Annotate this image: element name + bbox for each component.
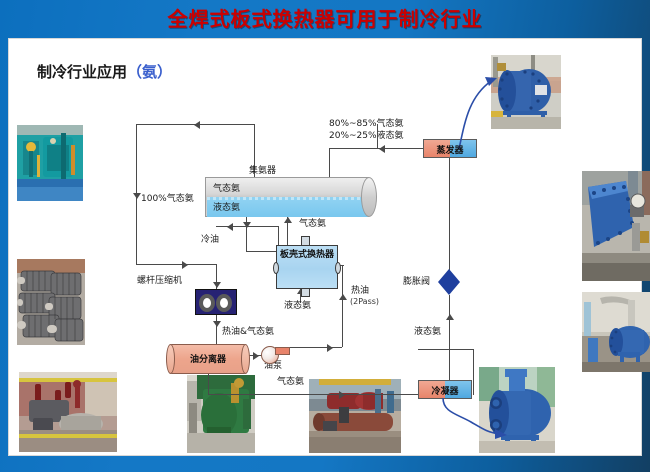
slide-canvas: 制冷行业应用（氨） [8, 38, 642, 456]
oil-pump-discharge [275, 347, 290, 355]
arrow-mix [379, 145, 385, 153]
pipe-vapor-to-cond [473, 349, 474, 395]
photo-blue-hx-piping [582, 292, 650, 372]
pipe-discharge-v [216, 315, 217, 344]
callout-evaporator-to-photo [439, 67, 509, 152]
arrow-sep-vapor [339, 391, 345, 399]
screw-compressor [195, 289, 237, 315]
photo-blue-hx-flange [582, 171, 650, 281]
arrow-cond-to-valve [446, 314, 454, 320]
pipe-collector-right-v [377, 124, 378, 149]
condenser: 冷凝器 [418, 380, 472, 399]
arrow-hot-oil [339, 294, 347, 300]
page-title: 全焊式板式换热器可用于制冷行业 [0, 3, 650, 32]
photo-workshop-red [19, 372, 117, 452]
section-heading: 制冷行业应用（氨） [37, 61, 172, 82]
arrow-sep-to-pump [253, 352, 259, 360]
plate-shell-heat-exchanger: 板壳式换热器 [276, 245, 338, 289]
photo-teal-plant [17, 125, 83, 201]
pshx-top-nozzle [301, 236, 310, 246]
collector-phase-vapor: 气态氨 [213, 181, 240, 194]
arrow-collector-downcomer [243, 222, 251, 228]
label-hot-oil-and-vapor: 热油&气态氨 [222, 327, 274, 338]
pipe-to-compressor [136, 264, 216, 265]
label-hot-oil-pass: (2Pass) [350, 297, 379, 307]
label-collector: 集氨器 [249, 163, 276, 176]
pipe-cond-to-valve [449, 295, 450, 380]
label-cold-oil: 冷油 [201, 235, 219, 246]
label-screw-compressor: 螺杆压缩机 [137, 276, 182, 287]
pipe-pump-out [290, 347, 342, 348]
arrow-vapor-to-hx [284, 217, 292, 223]
pipe-sep-vapor-h [208, 394, 418, 395]
pipe-valve-to-evap [449, 158, 450, 270]
arrow-discharge [213, 321, 221, 327]
collector-phase-liquid: 液态氨 [213, 200, 240, 213]
oil-separator-label: 油分离器 [170, 352, 246, 365]
pshx-bottom-nozzle [301, 288, 310, 297]
label-mix-line-2: 20%~25%液态氨 [329, 131, 404, 142]
oil-pump [261, 346, 291, 366]
photo-plate-packs [17, 259, 85, 345]
photo-red-vessels [309, 379, 401, 453]
label-ammonia-vapor-return: 气态氨 [277, 377, 304, 388]
pshx-left-nozzle [273, 262, 279, 274]
expansion-valve [438, 269, 460, 295]
arrow-to-compressor [182, 261, 188, 269]
callout-condenser-to-photo [437, 396, 527, 446]
pshx-right-nozzle [335, 262, 341, 274]
arrow-compressor-suction [213, 282, 221, 288]
title-bar: 全焊式板式换热器可用于制冷行业 [0, 0, 650, 38]
evaporator-label: 蒸发器 [424, 143, 476, 156]
label-liquid-ammonia-to-hx: 液态氨 [284, 301, 311, 312]
arrow-pump-out [327, 344, 333, 352]
label-liquid-ammonia-line: 液态氨 [414, 327, 441, 338]
pipe-cold-oil-v [278, 226, 279, 246]
section-heading-accent: （氨） [127, 63, 172, 81]
compressor-rotor-left [199, 294, 215, 312]
label-hot-oil: 热油 [351, 286, 369, 297]
pipe-sep-vapor-v [208, 374, 209, 394]
oil-separator: 油分离器 [169, 344, 247, 374]
pipe-hot-oil-v [342, 265, 343, 347]
section-heading-main: 制冷行业应用 [37, 63, 127, 81]
label-mix-line-1: 80%~85%气态氨 [329, 119, 404, 130]
pipe-mix-v [329, 148, 330, 178]
arrow-return-top [194, 121, 200, 129]
label-expansion-valve: 膨胀阀 [403, 277, 430, 288]
pipe-vapor-to-cond-h [418, 349, 474, 350]
expansion-valve-lower-body [438, 282, 460, 295]
pshx-label: 板壳式换热器 [277, 250, 337, 261]
pipe-collector-branch [246, 251, 276, 252]
collector-end-cap [361, 177, 377, 217]
arrow-100pct-vapor [133, 193, 141, 199]
compressor-rotor-right [216, 294, 232, 312]
condenser-label: 冷凝器 [419, 384, 471, 397]
label-ammonia-vapor-100: 100%气态氨 [141, 194, 194, 205]
slide-root: 全焊式板式换热器可用于制冷行业 制冷行业应用（氨） [0, 0, 650, 472]
label-ammonia-vapor-to-hx: 气态氨 [299, 219, 326, 230]
arrow-cold-oil [227, 223, 233, 231]
expansion-valve-upper-body [438, 269, 460, 282]
ammonia-collector-vessel: 气态氨 液态氨 [205, 177, 377, 217]
photo-green-machine [187, 375, 255, 453]
